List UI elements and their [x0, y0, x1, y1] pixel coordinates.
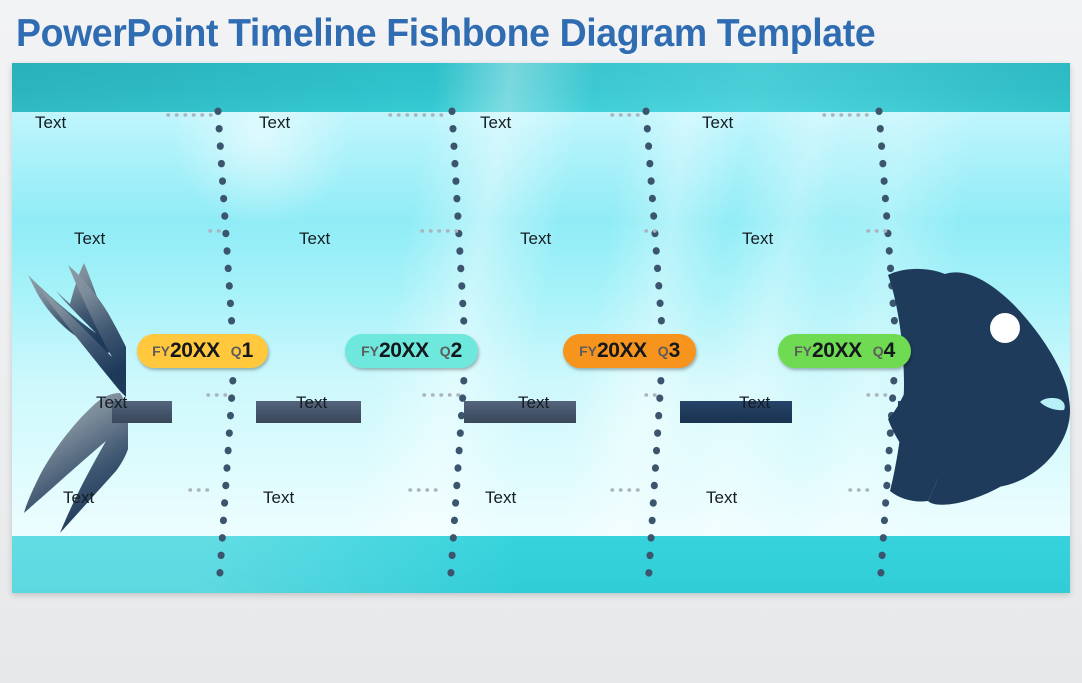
- milestone-fy-prefix: FY: [794, 343, 812, 359]
- bone-label-l1c2[interactable]: Text: [296, 394, 327, 411]
- upper-bone-3: [646, 111, 663, 343]
- milestone-pill-q2[interactable]: FY20XXQ2: [345, 334, 478, 368]
- lower-bone-1: [219, 363, 234, 587]
- milestone-q-prefix: Q: [231, 343, 242, 359]
- milestone-year: 20XX: [597, 339, 647, 363]
- bone-label-l2c4[interactable]: Text: [706, 489, 737, 506]
- milestone-q-prefix: Q: [873, 343, 884, 359]
- bone-label-u1c3[interactable]: Text: [480, 114, 511, 131]
- milestone-pill-q1[interactable]: FY20XXQ1: [137, 334, 268, 368]
- milestone-pill-q3[interactable]: FY20XXQ3: [563, 334, 696, 368]
- milestone-year: 20XX: [812, 339, 862, 363]
- milestone-year: 20XX: [379, 339, 429, 363]
- fishbone-svg: [12, 63, 1070, 593]
- spine-segment-3: [680, 401, 792, 423]
- page-title: PowerPoint Timeline Fishbone Diagram Tem…: [16, 8, 1024, 60]
- milestone-q-number: 2: [451, 339, 462, 363]
- bone-label-l2c1[interactable]: Text: [63, 489, 94, 506]
- bone-label-u2c2[interactable]: Text: [299, 230, 330, 247]
- fish-tail-upper-lobe: [40, 265, 126, 397]
- bone-label-l2c2[interactable]: Text: [263, 489, 294, 506]
- milestone-year: 20XX: [170, 339, 220, 363]
- milestone-q-number: 3: [669, 339, 680, 363]
- slide-page: PowerPoint Timeline Fishbone Diagram Tem…: [0, 0, 1082, 683]
- milestone-q-prefix: Q: [658, 343, 669, 359]
- bone-label-u1c2[interactable]: Text: [259, 114, 290, 131]
- fishbone-diagram-canvas: TextTextTextTextTextTextTextTextTextText…: [12, 63, 1070, 593]
- upper-bone-2: [452, 111, 465, 343]
- bone-label-u1c1[interactable]: Text: [35, 114, 66, 131]
- bone-label-u1c4[interactable]: Text: [702, 114, 733, 131]
- bone-label-u2c4[interactable]: Text: [742, 230, 773, 247]
- upper-bones: [218, 111, 896, 343]
- milestone-pill-q4[interactable]: FY20XXQ4: [778, 334, 911, 368]
- fish-eye: [990, 313, 1020, 343]
- milestone-fy-prefix: FY: [361, 343, 379, 359]
- lower-bone-4: [880, 363, 895, 587]
- bone-label-l2c3[interactable]: Text: [485, 489, 516, 506]
- milestone-q-number: 4: [884, 339, 895, 363]
- bone-label-u2c1[interactable]: Text: [74, 230, 105, 247]
- milestone-fy-prefix: FY: [152, 343, 170, 359]
- bone-layer: [12, 63, 1070, 593]
- milestone-q-number: 1: [242, 339, 253, 363]
- bone-label-l1c1[interactable]: Text: [96, 394, 127, 411]
- bone-label-l1c3[interactable]: Text: [518, 394, 549, 411]
- milestone-q-prefix: Q: [440, 343, 451, 359]
- bone-label-l1c4[interactable]: Text: [739, 394, 770, 411]
- upper-bone-4: [879, 111, 896, 343]
- milestone-fy-prefix: FY: [579, 343, 597, 359]
- bone-label-u2c3[interactable]: Text: [520, 230, 551, 247]
- upper-bone-1: [218, 111, 233, 343]
- label-connectors: [168, 115, 889, 490]
